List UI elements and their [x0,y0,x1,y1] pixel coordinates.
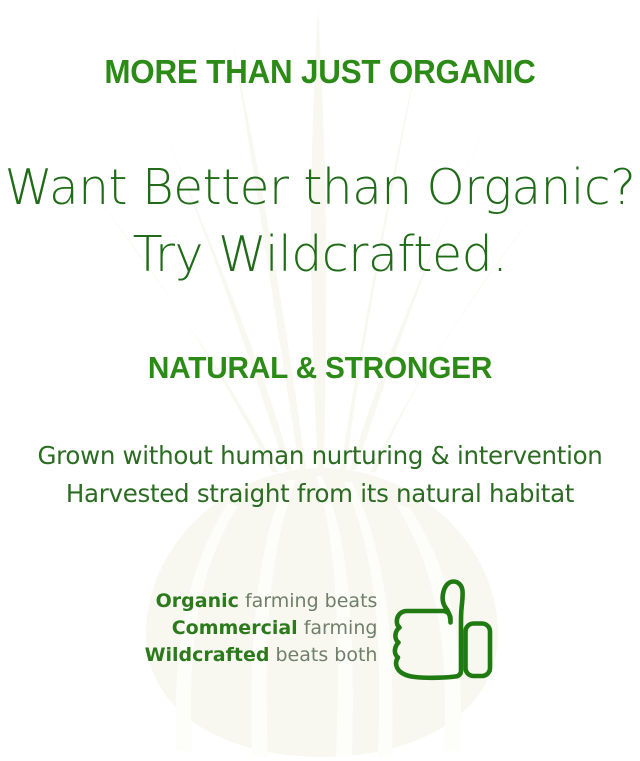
page-title: Want Better than Organic? Try Wildcrafte… [0,158,640,285]
callout-line-1-strong: Organic [156,590,239,612]
body-copy-line-2: Harvested straight from its natural habi… [6,475,633,513]
callout-line-3: Wildcrafted beats both [145,642,378,669]
subhead-text: NATURAL & STRONGER [13,350,627,386]
callout-line-2-strong: Commercial [172,617,298,639]
body-copy: Grown without human nurturing & interven… [0,437,640,513]
headline-line-1: Want Better than Organic? [3,158,637,218]
poster-canvas: MORE THAN JUST ORGANIC Want Better than … [0,0,640,761]
callout-text-block: Organic farming beats Commercial farming… [145,586,378,669]
comparison-callout: Organic farming beats Commercial farming… [0,586,640,696]
callout-line-2-rest: farming [298,617,378,639]
poster-content: MORE THAN JUST ORGANIC Want Better than … [0,0,640,761]
callout-line-3-rest: beats both [269,644,377,666]
callout-line-1-rest: farming beats [239,590,378,612]
callout-line-3-strong: Wildcrafted [145,644,270,666]
thumbs-up-icon [387,570,495,688]
callout-line-1: Organic farming beats [145,588,378,615]
body-copy-line-1: Grown without human nurturing & interven… [6,437,633,475]
headline-line-2: Try Wildcrafted. [0,225,640,285]
callout-line-2: Commercial farming [145,615,378,642]
eyebrow-text: MORE THAN JUST ORGANIC [16,53,624,91]
